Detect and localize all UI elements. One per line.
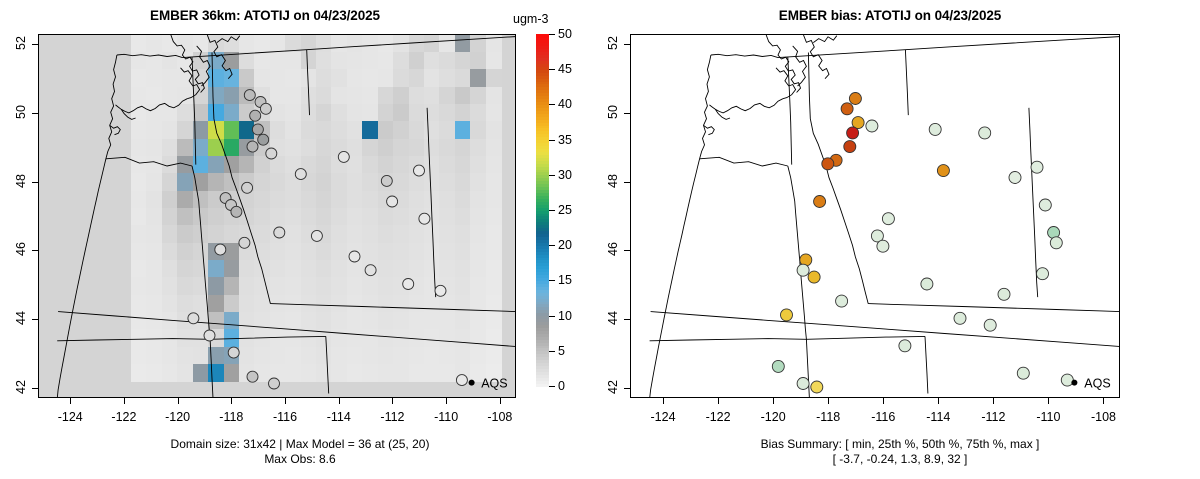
observation-site-marker[interactable] <box>1031 161 1043 173</box>
panel-model: EMBER 36km: ATOTIJ on 04/23/2025 AQS -12… <box>0 0 600 479</box>
observation-site-marker[interactable] <box>204 330 215 341</box>
y-axis-tick-label: 42 <box>606 372 620 402</box>
observation-site-marker[interactable] <box>414 165 425 176</box>
state-border-path <box>212 53 270 304</box>
colorbar-tick <box>549 175 555 176</box>
y-axis-tick <box>32 388 38 389</box>
map-outlines-bias: AQS <box>631 35 1119 397</box>
y-axis-tick-label: 46 <box>14 234 28 264</box>
observation-site-marker[interactable] <box>215 244 226 255</box>
colorbar-tick-label: 40 <box>558 97 572 111</box>
observation-site-marker[interactable] <box>247 371 258 382</box>
colorbar-tick-label: 35 <box>558 133 572 147</box>
colorbar-tick <box>549 140 555 141</box>
coastline-path <box>117 54 182 57</box>
map-outlines-model: AQS <box>39 35 515 397</box>
coastline-path <box>776 68 796 99</box>
state-border-path <box>270 304 516 312</box>
observation-site-marker[interactable] <box>274 227 285 238</box>
coastline-path <box>709 99 783 113</box>
colorbar-unit-model: ugm-3 <box>513 12 548 26</box>
state-border-path <box>806 336 925 339</box>
colorbar-tick <box>549 386 555 387</box>
observation-site-marker[interactable] <box>1050 237 1062 249</box>
observation-site-marker[interactable] <box>269 378 280 389</box>
aqs-legend-dot <box>469 380 475 386</box>
observation-site-marker[interactable] <box>814 196 826 208</box>
observation-site-marker[interactable] <box>877 240 889 252</box>
observation-site-marker[interactable] <box>1017 367 1029 379</box>
coastline-path <box>793 46 807 86</box>
observation-site-marker[interactable] <box>456 375 467 386</box>
state-border-path <box>700 157 788 166</box>
colorbar-tick <box>549 34 555 35</box>
y-axis-tick-label: 50 <box>14 97 28 127</box>
caption-model-line2: Max Obs: 8.6 <box>20 452 580 467</box>
observation-site-marker[interactable] <box>349 251 360 262</box>
state-border-path <box>326 336 329 393</box>
x-axis-tick-label: -124 <box>40 410 100 424</box>
observation-site-marker[interactable] <box>866 120 878 132</box>
observation-site-marker[interactable] <box>847 127 859 139</box>
x-axis-tick-label: -114 <box>309 410 369 424</box>
panel-title-bias: EMBER bias: ATOTIJ on 04/23/2025 <box>620 8 1160 23</box>
state-border-path <box>650 339 807 341</box>
x-axis-tick-label: -120 <box>148 410 208 424</box>
figure-canvas: EMBER 36km: ATOTIJ on 04/23/2025 AQS -12… <box>0 0 1200 479</box>
y-axis-tick <box>32 319 38 320</box>
state-border-path <box>210 336 326 339</box>
x-axis-tick-label: -110 <box>1018 410 1078 424</box>
colorbar-tick <box>549 69 555 70</box>
observation-site-marker[interactable] <box>311 230 322 241</box>
coastline-path <box>650 55 711 398</box>
colorbar-tick-label: 5 <box>558 344 565 358</box>
x-axis-tick-label: -122 <box>688 410 748 424</box>
colorbar-tick <box>549 210 555 211</box>
x-axis-tick <box>938 398 939 404</box>
observation-site-marker[interactable] <box>228 347 239 358</box>
x-axis-tick <box>1048 398 1049 404</box>
observation-site-marker[interactable] <box>772 360 784 372</box>
observation-site-marker[interactable] <box>239 237 250 248</box>
observation-site-marker[interactable] <box>419 213 430 224</box>
observation-site-marker[interactable] <box>403 279 414 290</box>
x-axis-tick-label: -116 <box>255 410 315 424</box>
x-axis-tick <box>124 398 125 404</box>
x-axis-tick-label: -116 <box>853 410 913 424</box>
observation-site-marker[interactable] <box>899 340 911 352</box>
plot-area-model: AQS <box>38 34 516 398</box>
x-axis-tick <box>231 398 232 404</box>
state-border-path <box>307 50 310 116</box>
x-axis-tick <box>828 398 829 404</box>
observation-site-marker[interactable] <box>998 288 1010 300</box>
coastline-path <box>711 54 778 57</box>
y-axis-tick-label: 48 <box>14 166 28 196</box>
state-border-path <box>58 312 516 347</box>
x-axis-tick <box>339 398 340 404</box>
caption-bias-line2: [ -3.7, -0.24, 1.3, 8.9, 32 ] <box>620 452 1180 467</box>
colorbar-tick-label: 0 <box>558 379 565 393</box>
x-axis-tick <box>993 398 994 404</box>
observation-site-marker[interactable] <box>250 110 261 121</box>
x-axis-tick <box>70 398 71 404</box>
state-border-path <box>808 53 868 304</box>
coastline-path <box>181 68 200 99</box>
x-axis-tick-label: -114 <box>908 410 968 424</box>
colorbar-tick-label: 20 <box>558 238 572 252</box>
observation-site-marker[interactable] <box>797 378 809 390</box>
observation-site-marker[interactable] <box>929 123 941 135</box>
state-border-path <box>651 312 1120 347</box>
state-border-path <box>106 157 192 166</box>
x-axis-tick-label: -110 <box>416 410 476 424</box>
observation-site-marker[interactable] <box>984 319 996 331</box>
aqs-legend-dot <box>1071 380 1077 386</box>
observation-site-marker[interactable] <box>258 134 269 145</box>
coastline-path <box>57 55 117 398</box>
observation-site-marker[interactable] <box>979 127 991 139</box>
observation-site-marker[interactable] <box>252 124 263 135</box>
observation-site-marker[interactable] <box>1039 199 1051 211</box>
observation-site-marker[interactable] <box>1061 374 1073 386</box>
x-axis-tick-label: -108 <box>470 410 530 424</box>
colorbar-tick <box>549 104 555 105</box>
observation-site-marker[interactable] <box>338 151 349 162</box>
y-axis-tick-label: 46 <box>606 234 620 264</box>
observation-site-marker[interactable] <box>921 278 933 290</box>
observation-site-marker[interactable] <box>797 264 809 276</box>
y-axis-tick <box>32 113 38 114</box>
aqs-legend-label: AQS <box>481 377 507 391</box>
state-border-path <box>192 57 196 165</box>
state-border-path <box>788 57 792 165</box>
aqs-legend-label: AQS <box>1084 377 1110 391</box>
state-border-path <box>427 108 436 297</box>
colorbar-segment <box>536 34 549 38</box>
y-axis-tick-label: 44 <box>14 303 28 333</box>
coastline-path <box>116 99 188 113</box>
caption-bias-line1: Bias Summary: [ min, 25th %, 50th %, 75t… <box>620 437 1180 452</box>
x-axis-tick-label: -120 <box>743 410 803 424</box>
caption-bias: Bias Summary: [ min, 25th %, 50th %, 75t… <box>620 437 1180 467</box>
y-axis-tick <box>32 250 38 251</box>
y-axis-tick <box>624 113 630 114</box>
y-axis-tick-label: 42 <box>14 372 28 402</box>
x-axis-tick <box>773 398 774 404</box>
x-axis-tick <box>663 398 664 404</box>
observation-site-marker[interactable] <box>954 312 966 324</box>
state-border-path <box>57 339 210 341</box>
observation-site-marker[interactable] <box>836 295 848 307</box>
y-axis-tick-label: 50 <box>606 97 620 127</box>
colorbar-strip-model <box>536 34 549 386</box>
observation-site-marker[interactable] <box>822 158 834 170</box>
observation-site-marker[interactable] <box>295 169 306 180</box>
observation-site-marker[interactable] <box>435 285 446 296</box>
x-axis-tick-label: -124 <box>633 410 693 424</box>
observation-site-marker[interactable] <box>849 93 861 105</box>
y-axis-tick <box>624 44 630 45</box>
colorbar-tick-label: 25 <box>558 203 572 217</box>
x-axis-tick <box>178 398 179 404</box>
x-axis-tick-label: -118 <box>798 410 858 424</box>
observation-site-marker[interactable] <box>937 165 949 177</box>
observation-site-marker[interactable] <box>841 103 853 115</box>
y-axis-tick <box>624 319 630 320</box>
colorbar-tick-label: 30 <box>558 168 572 182</box>
observation-site-marker[interactable] <box>260 103 271 114</box>
x-axis-tick <box>446 398 447 404</box>
colorbar-tick-label: 10 <box>558 309 572 323</box>
observation-site-marker[interactable] <box>781 309 793 321</box>
observation-site-marker[interactable] <box>244 90 255 101</box>
x-axis-tick-label: -112 <box>963 410 1023 424</box>
observation-site-marker[interactable] <box>381 175 392 186</box>
y-axis-tick-label: 52 <box>14 28 28 58</box>
observation-site-marker[interactable] <box>882 213 894 225</box>
x-axis-tick <box>392 398 393 404</box>
y-axis-tick-label: 48 <box>606 166 620 196</box>
y-axis-tick <box>624 388 630 389</box>
state-border-path <box>868 304 1120 312</box>
observation-site-marker[interactable] <box>247 141 258 152</box>
y-axis-tick-label: 44 <box>606 303 620 333</box>
state-border-path <box>1029 108 1038 297</box>
plot-area-bias: AQS <box>630 34 1120 398</box>
x-axis-tick-label: -118 <box>201 410 261 424</box>
y-axis-tick <box>32 44 38 45</box>
state-border-path <box>778 37 1120 58</box>
observation-site-marker[interactable] <box>266 148 277 159</box>
coastline-path <box>171 35 205 93</box>
x-axis-tick <box>1103 398 1104 404</box>
observation-site-marker[interactable] <box>844 141 856 153</box>
x-axis-tick <box>718 398 719 404</box>
colorbar-tick <box>549 351 555 352</box>
colorbar-tick-label: 50 <box>558 27 572 41</box>
coastline-path <box>197 46 210 86</box>
y-axis-tick-label: 52 <box>606 28 620 58</box>
caption-model-line1: Domain size: 31x42 | Max Model = 36 at (… <box>20 437 580 452</box>
coastline-path <box>813 36 837 43</box>
observation-site-marker[interactable] <box>811 381 823 393</box>
colorbar-tick <box>549 316 555 317</box>
observation-site-marker[interactable] <box>365 265 376 276</box>
observation-site-marker[interactable] <box>808 271 820 283</box>
colorbar-tick <box>549 280 555 281</box>
colorbar-tick-label: 45 <box>558 62 572 76</box>
state-border-path <box>210 339 213 398</box>
state-border-path <box>806 339 809 398</box>
observation-site-marker[interactable] <box>1009 172 1021 184</box>
state-border-path <box>925 336 928 393</box>
x-axis-tick-label: -108 <box>1073 410 1133 424</box>
colorbar-tick-label: 15 <box>558 273 572 287</box>
panel-title-model: EMBER 36km: ATOTIJ on 04/23/2025 <box>0 8 530 23</box>
observation-site-marker[interactable] <box>387 196 398 207</box>
coastline-path <box>217 36 240 43</box>
observation-site-marker[interactable] <box>242 182 253 193</box>
observation-site-marker[interactable] <box>1037 268 1049 280</box>
caption-model: Domain size: 31x42 | Max Model = 36 at (… <box>20 437 580 467</box>
y-axis-tick <box>32 182 38 183</box>
y-axis-tick <box>624 182 630 183</box>
colorbar-tick <box>549 245 555 246</box>
y-axis-tick <box>624 250 630 251</box>
x-axis-tick <box>500 398 501 404</box>
state-border-path <box>182 37 516 58</box>
observation-site-marker[interactable] <box>231 206 242 217</box>
x-axis-tick-label: -122 <box>94 410 154 424</box>
x-axis-tick <box>883 398 884 404</box>
x-axis-tick <box>285 398 286 404</box>
coastline-path <box>766 35 800 93</box>
observation-site-marker[interactable] <box>188 313 199 324</box>
x-axis-tick-label: -112 <box>362 410 422 424</box>
state-border-path <box>905 50 908 116</box>
panel-bias: EMBER bias: ATOTIJ on 04/23/2025 AQS -12… <box>600 0 1200 479</box>
